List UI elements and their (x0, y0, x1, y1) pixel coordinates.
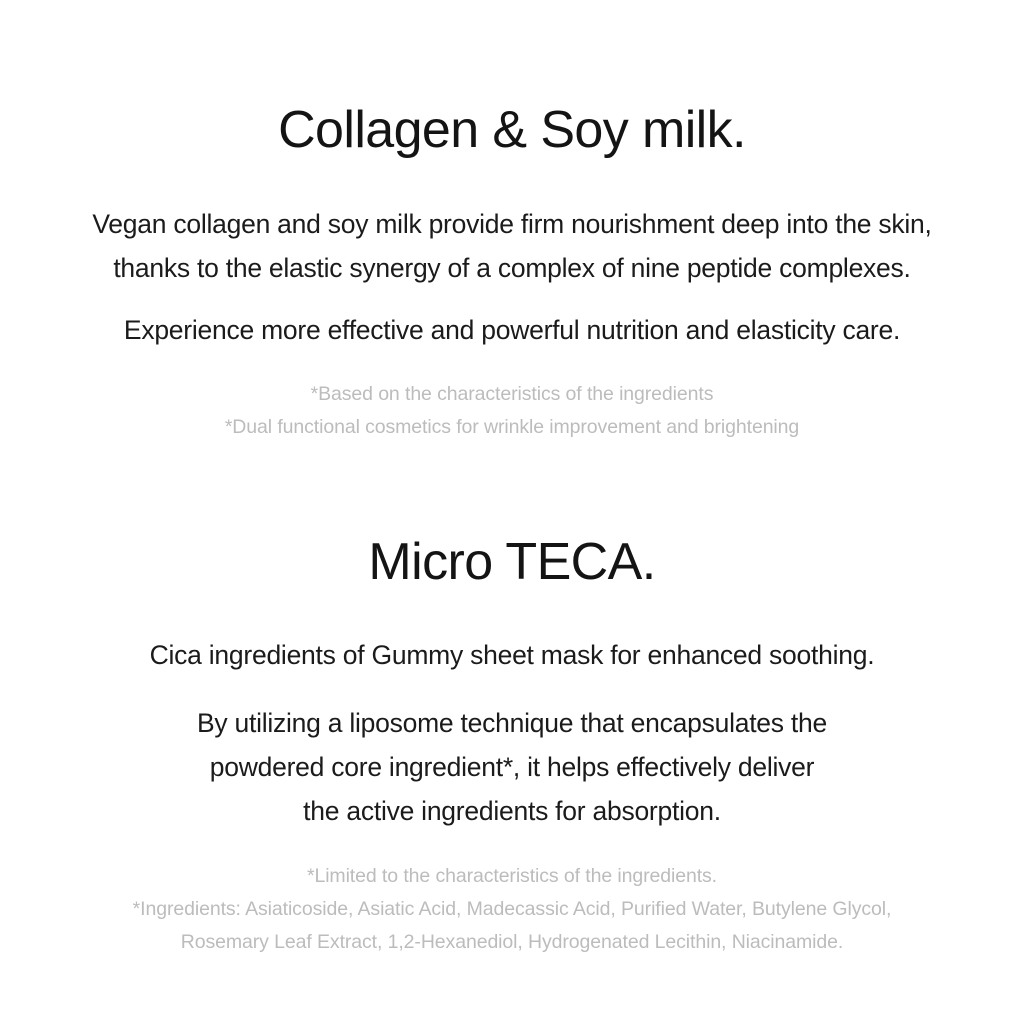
micro-teca-lead-paragraph: Cica ingredients of Gummy sheet mask for… (150, 633, 875, 677)
section-heading-collagen-soy-milk: Collagen & Soy milk. (278, 103, 746, 158)
micro-teca-detail-line-3: the active ingredients for absorption. (197, 789, 827, 833)
micro-teca-detail-paragraph: By utilizing a liposome technique that e… (197, 701, 827, 833)
micro-teca-footnote-line-3: Rosemary Leaf Extract, 1,2-Hexanediol, H… (133, 926, 892, 959)
collagen-intro-line-2: thanks to the elastic synergy of a compl… (92, 246, 931, 290)
micro-teca-footnote-line-2: *Ingredients: Asiaticoside, Asiatic Acid… (133, 893, 892, 926)
collagen-claim-paragraph: Experience more effective and powerful n… (124, 308, 900, 352)
collagen-footnote-line-2: *Dual functional cosmetics for wrinkle i… (225, 411, 799, 444)
collagen-claim-line-1: Experience more effective and powerful n… (124, 308, 900, 352)
section-heading-micro-teca: Micro TECA. (368, 535, 655, 590)
micro-teca-detail-line-1: By utilizing a liposome technique that e… (197, 701, 827, 745)
collagen-intro-line-1: Vegan collagen and soy milk provide firm… (92, 202, 931, 246)
micro-teca-lead-line-1: Cica ingredients of Gummy sheet mask for… (150, 633, 875, 677)
collagen-footnote-line-1: *Based on the characteristics of the ing… (225, 378, 799, 411)
product-detail-page: Collagen & Soy milk. Vegan collagen and … (0, 0, 1024, 1024)
micro-teca-footnotes: *Limited to the characteristics of the i… (133, 860, 892, 959)
micro-teca-footnote-line-1: *Limited to the characteristics of the i… (133, 860, 892, 893)
collagen-intro-paragraph: Vegan collagen and soy milk provide firm… (92, 202, 931, 290)
section-collagen-soy-milk: Collagen & Soy milk. Vegan collagen and … (0, 0, 1024, 444)
micro-teca-detail-line-2: powdered core ingredient*, it helps effe… (197, 745, 827, 789)
section-micro-teca: Micro TECA. Cica ingredients of Gummy sh… (0, 444, 1024, 960)
collagen-footnotes: *Based on the characteristics of the ing… (225, 378, 799, 444)
